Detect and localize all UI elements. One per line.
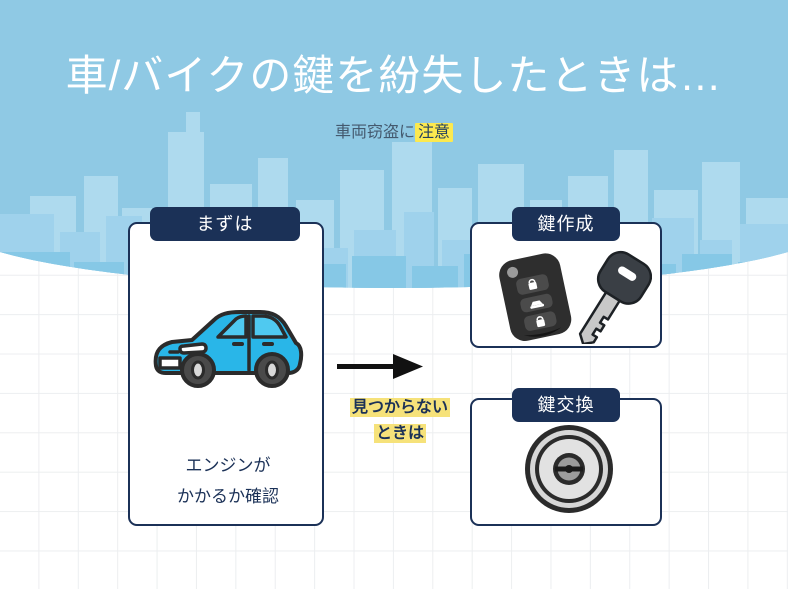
sky-background — [0, 0, 788, 300]
slide-canvas: 車/バイクの鍵を紛失したときは… 車両窃盗に注意 — [0, 0, 788, 589]
key-creation-icons — [486, 248, 652, 344]
page-title: 車/バイクの鍵を紛失したときは… — [0, 48, 788, 104]
card-caption-line-1: エンジンが — [130, 450, 326, 481]
badge-key-replacement: 鍵交換 — [512, 388, 620, 422]
connector-line-1-highlight: 見つからない — [350, 398, 450, 417]
subtitle: 車両窃盗に注意 — [0, 121, 788, 145]
lock-cylinder-icon — [522, 422, 616, 516]
connector-text-line-1: 見つからない — [330, 396, 470, 420]
connector-line-2-highlight: ときは — [374, 424, 426, 443]
arrow-right-icon — [337, 352, 427, 382]
connector-text-line-2: ときは — [330, 422, 470, 446]
card-caption-line-2: かかるか確認 — [130, 481, 326, 512]
card-first-step[interactable]: エンジンが かかるか確認 — [128, 222, 324, 526]
subtitle-plain-text: 車両窃盗に — [335, 124, 415, 141]
metal-key-icon — [563, 248, 652, 344]
car-key-fob-icon — [496, 251, 574, 344]
badge-key-creation: 鍵作成 — [512, 207, 620, 241]
car-icon — [148, 296, 308, 396]
subtitle-highlight-text: 注意 — [415, 123, 453, 142]
badge-first-step: まずは — [150, 207, 300, 241]
